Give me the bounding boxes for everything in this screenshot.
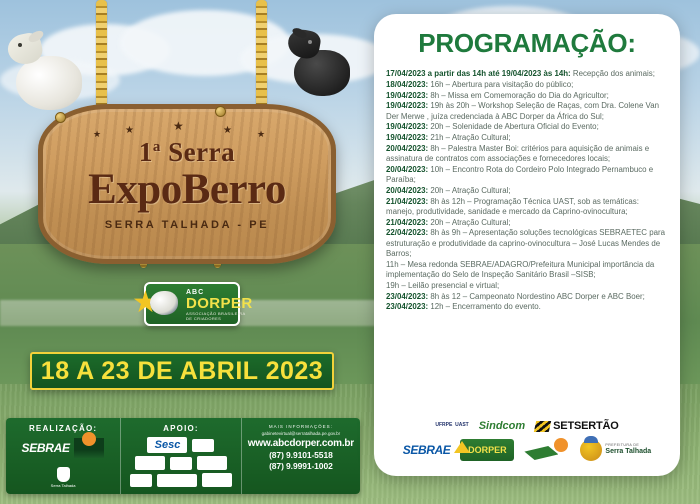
schedule-entry: 23/04/2023: 12h – Encerramento do evento… (386, 302, 668, 312)
event-location: SERRA TALHADA - PE (43, 219, 331, 231)
event-date-text: 18 A 23 DE ABRIL 2023 (41, 357, 323, 386)
star-icon: ★ (125, 125, 134, 136)
more-info-label: MAIS INFORMAÇÕES: (248, 424, 354, 429)
serra-talhada-logo: PREFEITURA DESerra Talhada (580, 439, 651, 461)
sebrae-logo: SEBRAE (23, 437, 69, 459)
dorper-sheep-icon (150, 291, 178, 315)
petrobras-logo (202, 473, 232, 487)
program-title: PROGRAMAÇÃO: (374, 28, 680, 59)
schedule-entry-text: 12h – Encerramento do evento. (428, 302, 541, 311)
star-icon: ★ (173, 121, 184, 132)
schedule-entry-date: 20/04/2023: (386, 165, 428, 174)
black-sheep-icon (288, 28, 350, 96)
schedule-entry-date: 21/04/2023: (386, 197, 428, 206)
poster-root: ★ ★ ★ ★ ★ 1a Serra ExpoBerro SERRA TALHA… (0, 0, 700, 504)
schedule-entry-text: 21h – Atração Cultural; (428, 133, 510, 142)
sesc-logo: Sesc (147, 437, 187, 453)
crest-icon (57, 467, 70, 482)
dorper-name-label: DORPER (186, 296, 253, 311)
partner-logo (157, 474, 197, 487)
setsertao-logo: SETSERTÃO (535, 420, 618, 432)
bolt-icon (215, 106, 226, 117)
white-sheep-icon (8, 30, 86, 112)
leaf-icon (524, 446, 558, 460)
schedule-list: 17/04/2023 a partir das 14h até 19/04/20… (374, 69, 680, 313)
bolt-icon (55, 112, 66, 123)
realizacao-label: REALIZAÇÃO: (12, 424, 114, 433)
schedule-entry: 19/04/2023: 21h – Atração Cultural; (386, 133, 668, 143)
chain-right-icon (256, 0, 267, 112)
schedule-entry-date: 20/04/2023: (386, 186, 428, 195)
schedule-entry-date: 23/04/2023: (386, 292, 428, 301)
sindcom-logo: Sindcom (479, 420, 525, 432)
schedule-entry-text: 20h – Atração Cultural; (428, 186, 510, 195)
partner-logo (170, 457, 192, 470)
schedule-entry-date: 19/04/2023: (386, 122, 428, 131)
schedule-entry-date: 19/04/2023: (386, 133, 428, 142)
schedule-entry-text: 8h – Missa em Comemoração do Dia do Agri… (428, 91, 609, 100)
serra-talhada-logo: Serra Talhada (50, 464, 76, 488)
contact-phone-1: (87) 9.9101-5518 (248, 450, 354, 460)
abc-dorper-logo: DORPER (460, 439, 514, 461)
sponsor-row-2: SEBRAE DORPER PREFEITURA DESerra Talhada (374, 438, 680, 462)
schedule-entry: 22/04/2023: 8h às 9h – Apresentação solu… (386, 228, 668, 259)
apoio-label: APOIO: (127, 424, 235, 433)
poster-footer: REALIZAÇÃO: SEBRAE Serra Talhada APOIO: … (6, 418, 360, 494)
realizacao-section: REALIZAÇÃO: SEBRAE Serra Talhada (6, 418, 120, 494)
chain-left-icon (96, 0, 107, 118)
star-icon: ★ (223, 125, 232, 136)
schedule-entry-text: 20h – Atração Cultural; (428, 218, 510, 227)
schedule-entry-date: 17/04/2023 a partir das 14h até 19/04/20… (386, 69, 571, 78)
schedule-entry: 19/04/2023: 19h às 20h – Workshop Seleçã… (386, 101, 668, 122)
rural-logo (74, 438, 104, 458)
sponsor-row-1: UFRPE UAST Sindcom SETSERTÃO (374, 420, 680, 432)
schedule-entry-date: 20/04/2023: (386, 144, 428, 153)
schedule-entry: 19/04/2023: 20h – Solenidade de Abertura… (386, 122, 668, 132)
mascot-icon (580, 439, 602, 461)
abc-dorper-badge: ★ ABC DORPER ASSOCIAÇÃO BRASILEIRA DE CR… (144, 282, 240, 326)
schedule-entry-text: 8h às 12 – Campeonato Nordestino ABC Dor… (428, 292, 645, 301)
schedule-entry-text: 16h – Abertura para visitação do público… (428, 80, 573, 89)
schedule-entry-text: 8h às 9h – Apresentação soluções tecnoló… (386, 228, 665, 258)
schedule-entry: 21/04/2023: 20h – Atração Cultural; (386, 218, 668, 228)
event-edition-title: 1a Serra (43, 137, 331, 168)
schedule-entry: 19/04/2023: 8h – Missa em Comemoração do… (386, 91, 668, 101)
sebrae-logo: SEBRAE (403, 443, 451, 457)
schedule-entry-date: 23/04/2023: (386, 302, 428, 311)
schedule-entry: 21/04/2023: 8h às 12h – Programação Técn… (386, 197, 668, 218)
partner-logo (130, 474, 152, 487)
event-name-title: ExpoBerro (43, 165, 331, 214)
partner-logo (197, 456, 227, 470)
schedule-entry: 17/04/2023 a partir das 14h até 19/04/20… (386, 69, 668, 79)
schedule-entry-date: 22/04/2023: (386, 228, 428, 237)
contact-website[interactable]: www.abcdorper.com.br (248, 438, 354, 449)
schedule-entry-date: 19/04/2023: (386, 101, 428, 110)
sun-icon (554, 438, 568, 452)
contact-section: MAIS INFORMAÇÕES: gabinetevirtual@serrat… (242, 418, 360, 494)
dorper-subtitle: ASSOCIAÇÃO BRASILEIRA DE CRIADORES (186, 311, 253, 321)
schedule-entry: 20/04/2023: 10h – Encontro Rota do Corde… (386, 165, 668, 186)
schedule-entry-text: Recepção dos animais; (571, 69, 655, 78)
schedule-entry: 19h – Leilão presencial e virtual; (386, 281, 668, 291)
schedule-entry-text: 20h – Solenidade de Abertura Oficial do … (428, 122, 599, 131)
schedule-entry: 23/04/2023: 8h às 12 – Campeonato Nordes… (386, 292, 668, 302)
partner-logo (135, 456, 165, 470)
apoio-section: APOIO: Sesc (120, 418, 242, 494)
schedule-entry: 20/04/2023: 8h – Palestra Master Boi: cr… (386, 144, 668, 165)
schedule-entry-date: 19/04/2023: (386, 91, 428, 100)
schedule-entry-text: 19h – Leilão presencial e virtual; (386, 281, 499, 290)
schedule-entry-date: 21/04/2023: (386, 218, 428, 227)
contact-email: gabinetevirtual@serratalhada.pe.gov.br (248, 431, 354, 436)
wooden-sign: ★ ★ ★ ★ ★ 1a Serra ExpoBerro SERRA TALHA… (38, 104, 336, 264)
partner-logo (192, 439, 214, 452)
schedule-entry: 11h – Mesa redonda SEBRAE/ADAGRO/Prefeit… (386, 260, 668, 281)
uast-logo: UFRPE UAST (435, 423, 468, 429)
schedule-entry: 18/04/2023: 16h – Abertura para visitaçã… (386, 80, 668, 90)
schedule-entry-text: 11h – Mesa redonda SEBRAE/ADAGRO/Prefeit… (386, 260, 654, 279)
caprinos-logo (524, 438, 570, 462)
sponsor-logos: UFRPE UAST Sindcom SETSERTÃO SEBRAE DORP… (374, 414, 680, 462)
event-date-bar: 18 A 23 DE ABRIL 2023 (30, 352, 334, 390)
program-card: PROGRAMAÇÃO: 17/04/2023 a partir das 14h… (374, 14, 680, 476)
contact-phone-2: (87) 9.9991-1002 (248, 461, 354, 471)
schedule-entry: 20/04/2023: 20h – Atração Cultural; (386, 186, 668, 196)
schedule-entry-date: 18/04/2023: (386, 80, 428, 89)
